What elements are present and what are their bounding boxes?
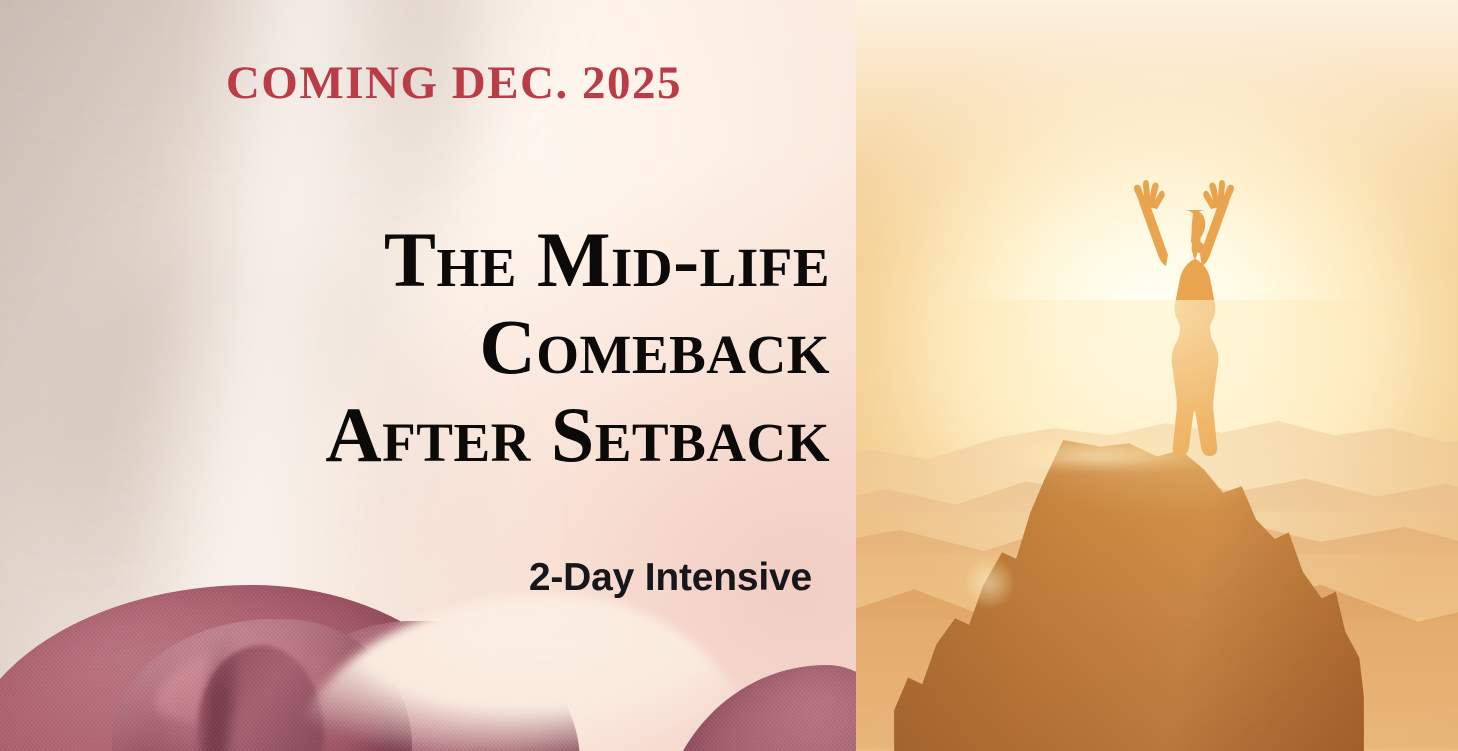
- kicker-date: COMING DEC. 2025: [0, 60, 682, 107]
- right-photo-panel: [856, 0, 1458, 751]
- headline-line-2: Comeback: [0, 303, 830, 390]
- headline-line-3: After Setback: [0, 391, 830, 478]
- event-announcement-banner: COMING DEC. 2025 The Mid-life Comeback A…: [0, 0, 1458, 751]
- left-text-panel: COMING DEC. 2025 The Mid-life Comeback A…: [0, 0, 856, 751]
- subtitle-format: 2-Day Intensive: [0, 558, 812, 597]
- copy-block: COMING DEC. 2025 The Mid-life Comeback A…: [0, 0, 856, 751]
- headline-line-1: The Mid-life: [0, 216, 830, 303]
- page-title: The Mid-life Comeback After Setback: [0, 216, 830, 478]
- woman-silhouette-icon: [1094, 148, 1274, 478]
- lens-flare: [966, 560, 1012, 606]
